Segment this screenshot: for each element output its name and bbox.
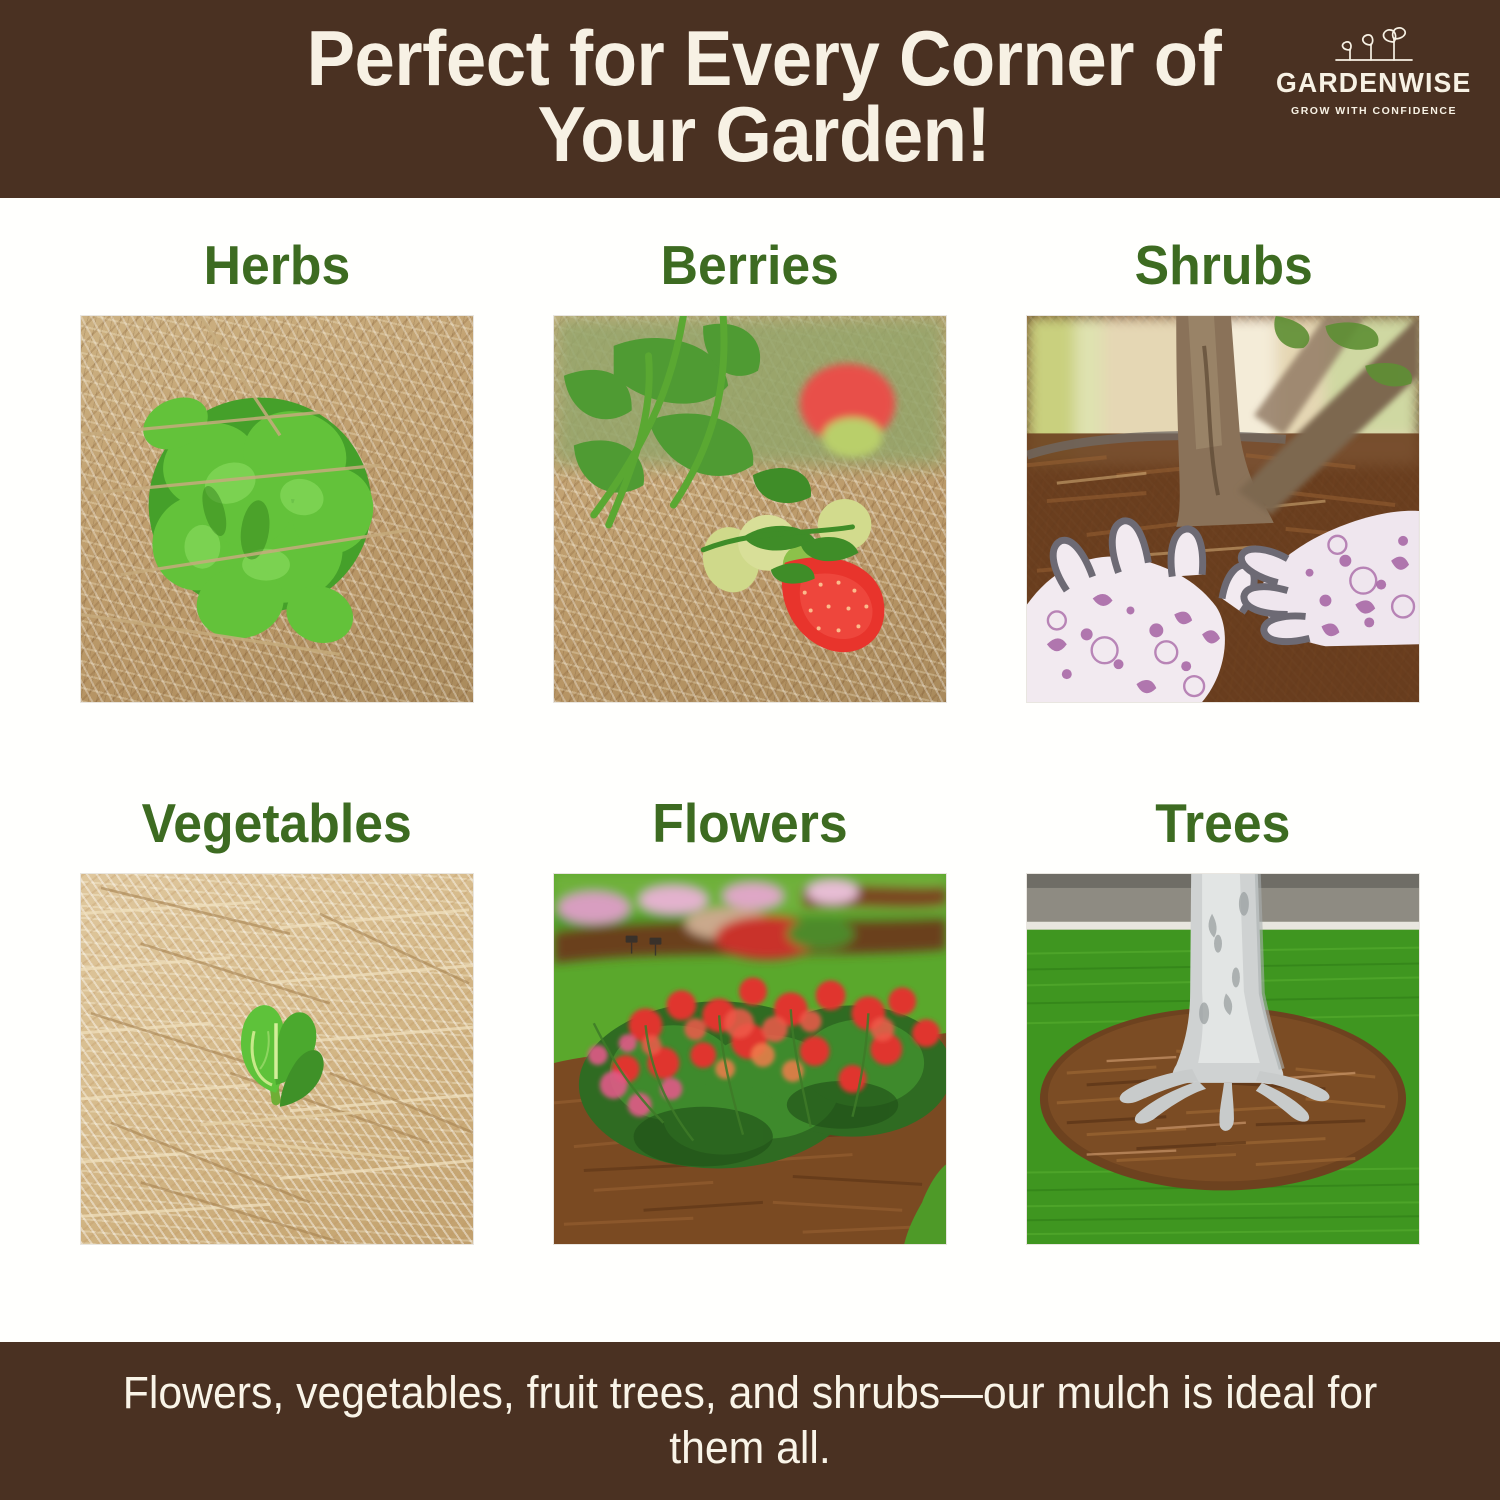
- category-title-shrubs: Shrubs: [1134, 238, 1312, 293]
- footer-banner: Flowers, vegetables, fruit trees, and sh…: [0, 1342, 1500, 1500]
- footer-caption-line-1: Flowers, vegetables, fruit trees, and sh…: [123, 1367, 1214, 1418]
- category-title-vegetables: Vegetables: [142, 796, 412, 851]
- category-cell-vegetables: Vegetables: [40, 774, 513, 1332]
- flowers-photo: [553, 873, 947, 1245]
- brand-logo: GARDENWISE GROW WITH CONFIDENCE: [1274, 26, 1474, 134]
- category-title-trees: Trees: [1156, 796, 1291, 851]
- category-cell-trees: Trees: [987, 774, 1460, 1332]
- logo-tagline: GROW WITH CONFIDENCE: [1291, 106, 1457, 117]
- category-grid: Herbs: [0, 198, 1500, 1342]
- category-title-herbs: Herbs: [203, 238, 350, 293]
- page-title: Perfect for Every Corner of Your Garden!: [187, 21, 1312, 176]
- infographic-page: Perfect for Every Corner of Your Garden!: [0, 0, 1500, 1500]
- category-cell-flowers: Flowers: [513, 774, 986, 1332]
- berries-photo: [553, 315, 947, 703]
- vegetables-photo: [80, 873, 474, 1245]
- category-cell-berries: Berries: [513, 216, 986, 774]
- three-seedlings-icon: [1328, 26, 1420, 66]
- page-title-line-2: Your Garden!: [538, 90, 991, 178]
- category-cell-shrubs: Shrubs: [987, 216, 1460, 774]
- logo-wordmark: GARDENWISE: [1276, 69, 1471, 97]
- category-title-flowers: Flowers: [652, 796, 847, 851]
- trees-photo: [1026, 873, 1420, 1245]
- footer-caption: Flowers, vegetables, fruit trees, and sh…: [118, 1366, 1382, 1476]
- shrubs-photo: [1026, 315, 1420, 703]
- herbs-photo: [80, 315, 474, 703]
- header-banner: Perfect for Every Corner of Your Garden!: [0, 0, 1500, 198]
- category-cell-herbs: Herbs: [40, 216, 513, 774]
- category-title-berries: Berries: [661, 238, 839, 293]
